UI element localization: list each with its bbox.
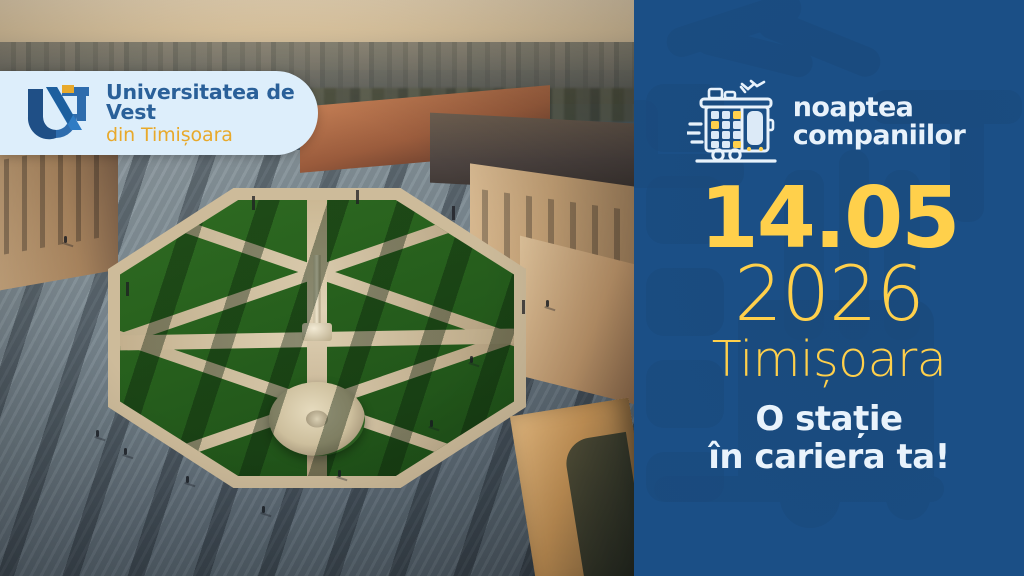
uvt-name-line1: Universitatea de Vest: [106, 82, 318, 123]
tagline-line-2: în cariera ta!: [708, 438, 950, 476]
event-poster: Universitatea de Vest din Timișoara: [0, 0, 1024, 576]
tagline-line-1: O stație: [708, 400, 950, 438]
event-tagline: O stație în cariera ta!: [708, 400, 950, 476]
brand-line-2: companiilor: [793, 122, 966, 150]
event-brand-wordmark: noaptea companiilor: [793, 94, 966, 150]
event-year: 2026: [734, 258, 923, 331]
event-city: Timișoara: [712, 335, 947, 384]
info-panel: noaptea companiilor 14.05 2026 Timișoara…: [634, 0, 1024, 576]
uvt-logo-badge: Universitatea de Vest din Timișoara: [0, 71, 318, 155]
event-brand: noaptea companiilor: [687, 78, 966, 166]
brand-line-1: noaptea: [793, 94, 966, 122]
uvt-wordmark: Universitatea de Vest din Timișoara: [106, 82, 318, 145]
event-date: 14.05: [700, 178, 959, 260]
uvt-monogram-icon: [24, 83, 100, 143]
uvt-name-line2: din Timișoara: [106, 126, 318, 145]
tram-building-icon: [687, 78, 783, 166]
